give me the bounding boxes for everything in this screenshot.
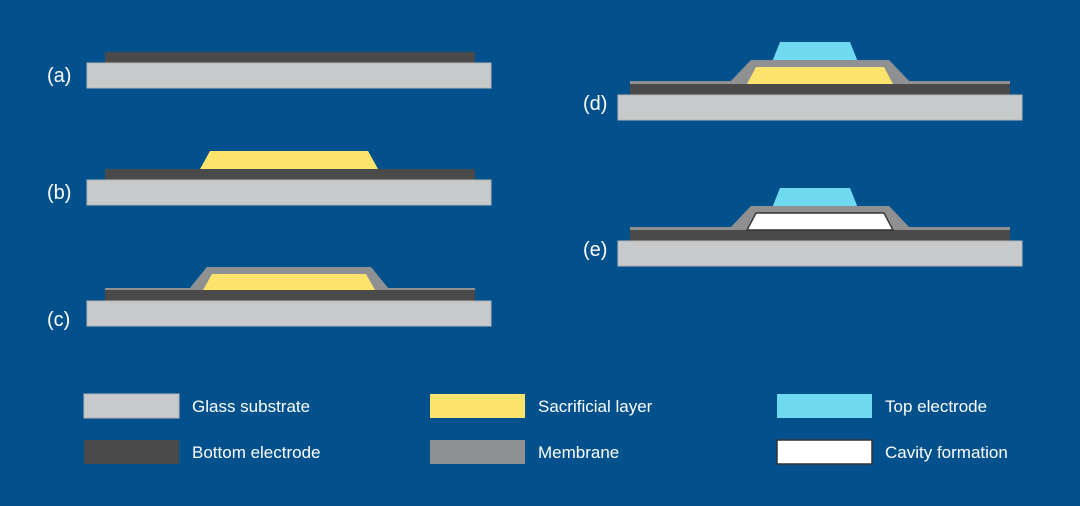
legend: Glass substrate Bottom electrode Sacrifi… bbox=[84, 394, 1008, 464]
panel-e: (e) bbox=[583, 188, 1022, 266]
panel-c-bottom-electrode bbox=[105, 290, 475, 301]
panel-d-top-electrode bbox=[772, 42, 858, 62]
panel-d: (d) bbox=[583, 42, 1022, 120]
legend-label-bottom-electrode: Bottom electrode bbox=[192, 443, 321, 462]
panel-a-bottom-electrode bbox=[105, 52, 475, 63]
panel-e-glass-substrate bbox=[618, 241, 1022, 266]
panel-b-bottom-electrode bbox=[105, 169, 475, 180]
legend-label-cavity-formation: Cavity formation bbox=[885, 443, 1008, 462]
panel-c-label: (c) bbox=[47, 309, 70, 331]
panel-a-glass-substrate bbox=[87, 63, 491, 88]
panel-c-sacrificial-inner bbox=[203, 274, 375, 290]
panel-c-glass-substrate bbox=[87, 301, 491, 326]
panel-a-label: (a) bbox=[47, 65, 71, 87]
legend-label-membrane: Membrane bbox=[538, 443, 619, 462]
legend-swatch-bottom-electrode bbox=[84, 440, 179, 464]
fabrication-process-diagram: (a) (b) (c) bbox=[0, 0, 1080, 506]
panel-b: (b) bbox=[47, 151, 491, 205]
legend-swatch-membrane bbox=[430, 440, 525, 464]
panel-a: (a) bbox=[47, 52, 491, 88]
panel-e-label: (e) bbox=[583, 239, 607, 261]
legend-label-glass-substrate: Glass substrate bbox=[192, 397, 310, 416]
panel-b-sacrificial-layer-top bbox=[200, 151, 378, 169]
panel-b-label: (b) bbox=[47, 182, 71, 204]
legend-item-top-electrode: Top electrode bbox=[777, 394, 987, 418]
legend-item-bottom-electrode: Bottom electrode bbox=[84, 440, 321, 464]
legend-swatch-top-electrode bbox=[777, 394, 872, 418]
panel-d-label: (d) bbox=[583, 93, 607, 115]
legend-item-membrane: Membrane bbox=[430, 440, 619, 464]
legend-column-3: Top electrode Cavity formation bbox=[777, 394, 1008, 464]
panel-e-cavity-inner bbox=[747, 213, 893, 230]
panel-d-glass-substrate bbox=[618, 95, 1022, 120]
legend-swatch-cavity-formation bbox=[777, 440, 872, 464]
legend-column-1: Glass substrate Bottom electrode bbox=[84, 394, 321, 464]
legend-item-sacrificial-layer: Sacrificial layer bbox=[430, 394, 653, 418]
panel-c: (c) bbox=[47, 267, 491, 331]
panel-d-sacrificial-inner bbox=[747, 67, 893, 84]
legend-label-top-electrode: Top electrode bbox=[885, 397, 987, 416]
legend-label-sacrificial-layer: Sacrificial layer bbox=[538, 397, 653, 416]
legend-item-cavity-formation: Cavity formation bbox=[777, 440, 1008, 464]
process-flow-figure: (a) (b) (c) bbox=[0, 0, 1080, 506]
legend-column-2: Sacrificial layer Membrane bbox=[430, 394, 653, 464]
panel-e-top-electrode bbox=[772, 188, 858, 208]
panel-e-bottom-electrode bbox=[630, 230, 1010, 241]
legend-swatch-glass-substrate bbox=[84, 394, 179, 418]
panel-b-glass-substrate bbox=[87, 180, 491, 205]
panel-d-bottom-electrode bbox=[630, 84, 1010, 95]
legend-item-glass-substrate: Glass substrate bbox=[84, 394, 310, 418]
legend-swatch-sacrificial-layer bbox=[430, 394, 525, 418]
